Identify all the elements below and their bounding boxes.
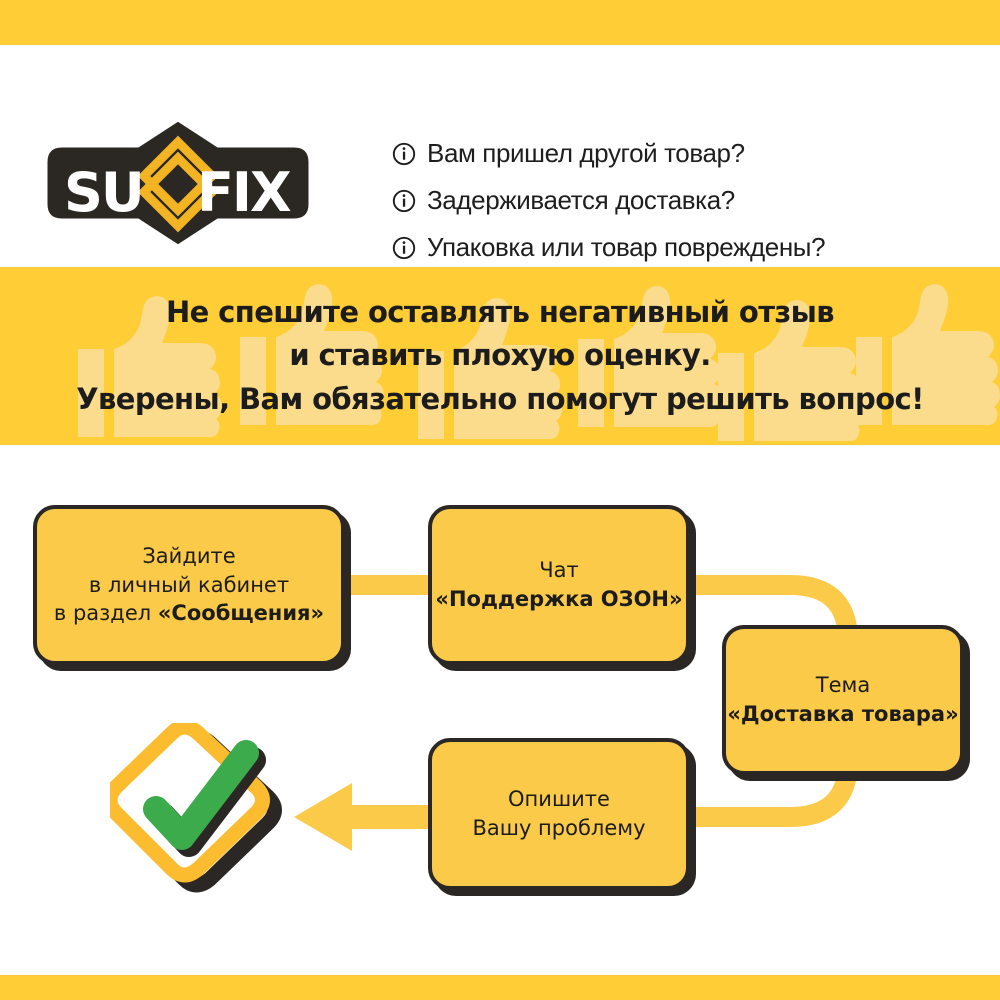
brand-logo: SU FIX — [42, 118, 314, 248]
flow-step-describe-problem[interactable]: Опишите Вашу проблему — [428, 738, 690, 890]
arrow-left-icon — [294, 783, 436, 851]
step-line-mixed: в раздел «Сообщения» — [54, 599, 324, 628]
flow-step-topic-delivery[interactable]: Тема «Доставка товара» — [722, 625, 964, 775]
step-line-strong: «Сообщения» — [158, 601, 324, 625]
questions-list: Вам пришел другой товар? Задерживается д… — [392, 138, 825, 263]
question-row: Задерживается доставка? — [392, 185, 825, 216]
step-line: Зайдите — [142, 542, 235, 571]
banner-line-1: Не спешите оставлять негативный отзыв — [166, 294, 834, 331]
question-row: Упаковка или товар повреждены? — [392, 232, 825, 263]
step-line: Чат — [539, 556, 579, 585]
question-text: Задерживается доставка? — [427, 185, 735, 216]
bottom-accent-bar — [0, 975, 1000, 1000]
question-text: Вам пришел другой товар? — [427, 138, 745, 169]
logo-text-fix: FIX — [197, 161, 290, 224]
header-section: SU FIX Вам пришел другой товар? Задержив… — [0, 45, 1000, 267]
top-accent-bar — [0, 0, 1000, 45]
connector-step1-step2 — [340, 575, 436, 595]
advice-banner: Не спешите оставлять негативный отзыв и … — [0, 267, 1000, 445]
step-line: в личный кабинет — [89, 571, 289, 600]
banner-text-block: Не спешите оставлять негативный отзыв и … — [0, 267, 1000, 445]
step-line: Вашу проблему — [472, 814, 645, 843]
step-line-prefix: в раздел — [54, 601, 158, 625]
green-checkmark-icon — [110, 723, 290, 893]
info-circle-icon — [392, 189, 416, 213]
question-text: Упаковка или товар повреждены? — [427, 232, 825, 263]
step-line: Опишите — [508, 785, 610, 814]
question-row: Вам пришел другой товар? — [392, 138, 825, 169]
flow-step-messages[interactable]: Зайдите в личный кабинет в раздел «Сообщ… — [33, 505, 345, 665]
info-circle-icon — [392, 236, 416, 260]
step-line-strong: «Поддержка ОЗОН» — [435, 585, 682, 614]
banner-line-3: Уверены, Вам обязательно помогут решить … — [76, 381, 924, 418]
info-circle-icon — [392, 142, 416, 166]
banner-line-2: и ставить плохую оценку. — [289, 337, 710, 374]
step-line: Тема — [816, 671, 870, 700]
flow-step-chat-support[interactable]: Чат «Поддержка ОЗОН» — [428, 505, 690, 665]
flowchart-section: Зайдите в личный кабинет в раздел «Сообщ… — [0, 445, 1000, 975]
logo-text-su: SU — [64, 161, 143, 224]
step-line-strong: «Доставка товара» — [727, 700, 958, 729]
